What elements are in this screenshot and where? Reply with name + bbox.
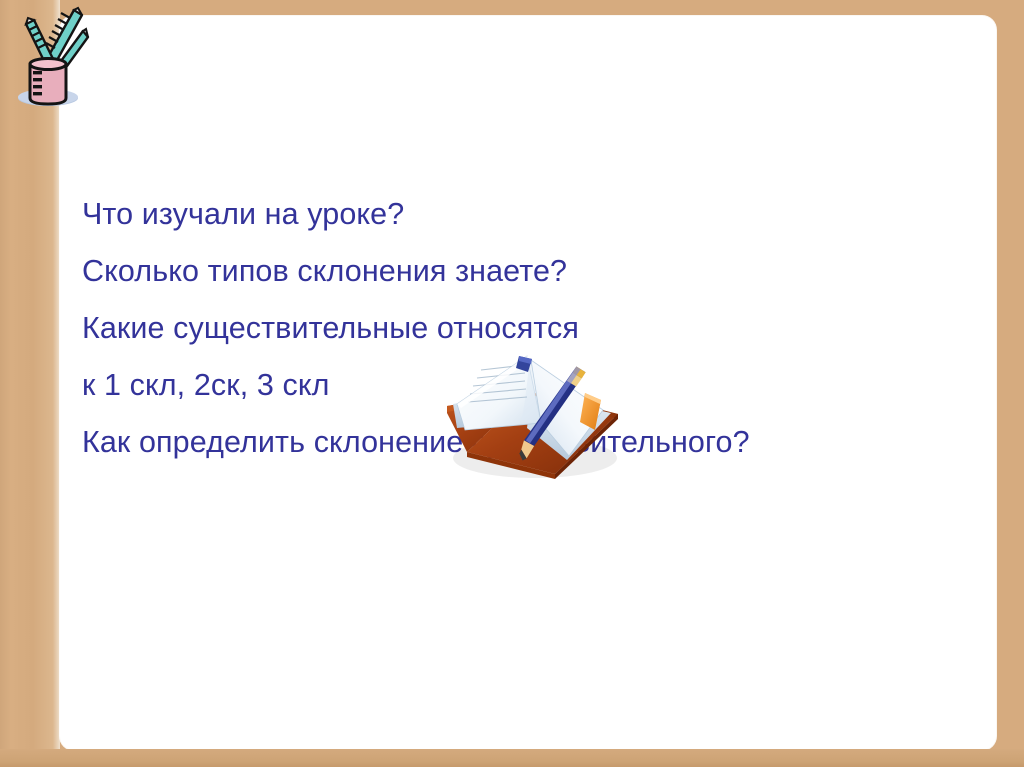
slide-frame: Что изучали на уроке? Сколько типов скло…: [0, 0, 1024, 767]
slide-canvas: Что изучали на уроке? Сколько типов скло…: [60, 16, 996, 750]
open-book-with-pen-icon: [435, 318, 625, 483]
question-line-2: Сколько типов склонения знаете?: [82, 243, 972, 300]
pencil-cup-icon: [12, 6, 90, 118]
question-line-1: Что изучали на уроке?: [82, 186, 972, 243]
